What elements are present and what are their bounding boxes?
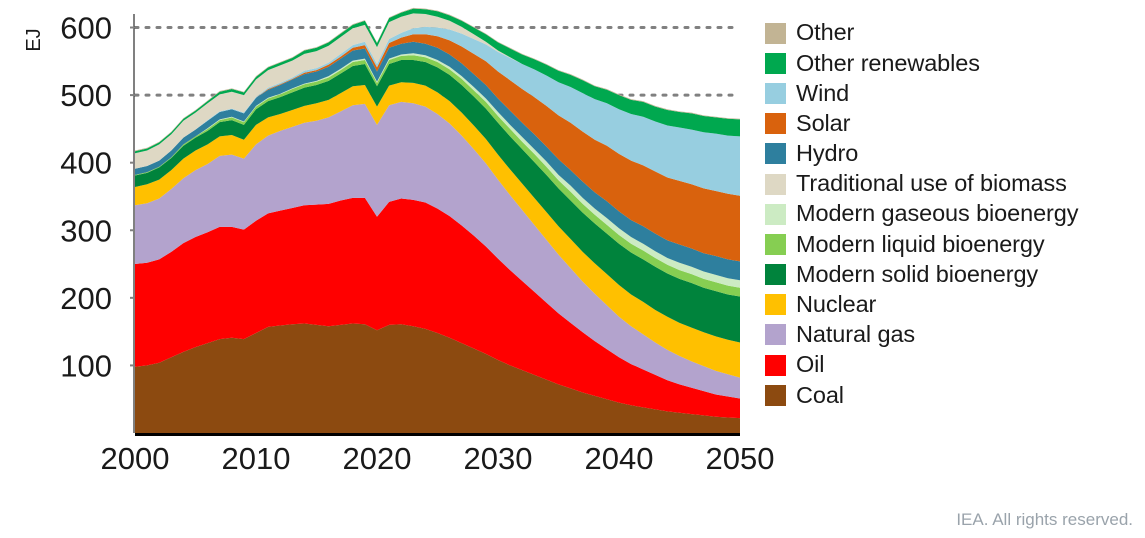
y-tick-label: 400	[60, 146, 112, 181]
legend-item[interactable]: Traditional use of biomass	[765, 169, 1135, 199]
y-tick-label: 600	[60, 11, 112, 46]
legend-label: Modern gaseous bioenergy	[796, 202, 1078, 226]
legend-swatch	[765, 23, 786, 44]
legend-swatch	[765, 143, 786, 164]
legend-swatch	[765, 324, 786, 345]
legend-label: Solar	[796, 112, 850, 136]
legend-label: Oil	[796, 353, 824, 377]
legend-swatch	[765, 53, 786, 74]
legend-swatch	[765, 204, 786, 225]
x-tick-label: 2030	[464, 441, 533, 476]
x-tick-label: 2050	[706, 441, 775, 476]
legend-swatch	[765, 174, 786, 195]
legend-item[interactable]: Coal	[765, 380, 1135, 410]
legend-label: Modern liquid bioenergy	[796, 233, 1045, 257]
legend-label: Hydro	[796, 142, 858, 166]
legend-swatch	[765, 385, 786, 406]
legend-swatch	[765, 234, 786, 255]
legend-label: Natural gas	[796, 323, 915, 347]
legend-swatch	[765, 355, 786, 376]
legend-label: Traditional use of biomass	[796, 172, 1067, 196]
copyright-notice: IEA. All rights reserved.	[956, 510, 1133, 530]
legend-item[interactable]: Modern liquid bioenergy	[765, 229, 1135, 259]
legend-item[interactable]: Nuclear	[765, 290, 1135, 320]
legend-item[interactable]: Hydro	[765, 139, 1135, 169]
legend-swatch	[765, 264, 786, 285]
legend-item[interactable]: Solar	[765, 109, 1135, 139]
legend-label: Wind	[796, 82, 849, 106]
legend-label: Modern solid bioenergy	[796, 263, 1038, 287]
y-axis-ticks: 100200300400500600	[60, 11, 135, 384]
legend-label: Other renewables	[796, 52, 980, 76]
x-tick-label: 2020	[343, 441, 412, 476]
legend-item[interactable]: Natural gas	[765, 320, 1135, 350]
x-tick-label: 2040	[585, 441, 654, 476]
legend-label: Other	[796, 21, 854, 45]
y-tick-label: 300	[60, 213, 112, 248]
y-tick-label: 500	[60, 78, 112, 113]
legend-item[interactable]: Oil	[765, 350, 1135, 380]
y-tick-label: 100	[60, 348, 112, 383]
y-tick-label: 200	[60, 281, 112, 316]
area-series-group	[135, 8, 740, 433]
legend-label: Nuclear	[796, 293, 876, 317]
legend-swatch	[765, 113, 786, 134]
legend-swatch	[765, 294, 786, 315]
x-axis-ticks: 200020102020203020402050	[101, 441, 775, 476]
x-tick-label: 2000	[101, 441, 170, 476]
legend-item[interactable]: Wind	[765, 78, 1135, 108]
legend-item[interactable]: Other	[765, 18, 1135, 48]
legend-label: Coal	[796, 384, 844, 408]
chart-legend: OtherOther renewablesWindSolarHydroTradi…	[765, 18, 1135, 410]
y-axis-unit-text: EJ	[23, 28, 45, 51]
legend-item[interactable]: Modern solid bioenergy	[765, 260, 1135, 290]
x-tick-label: 2010	[222, 441, 291, 476]
legend-swatch	[765, 83, 786, 104]
y-axis-unit-label: EJ	[23, 28, 45, 51]
legend-item[interactable]: Modern gaseous bioenergy	[765, 199, 1135, 229]
chart-figure: 100200300400500600 200020102020203020402…	[0, 0, 1145, 538]
legend-item[interactable]: Other renewables	[765, 48, 1135, 78]
